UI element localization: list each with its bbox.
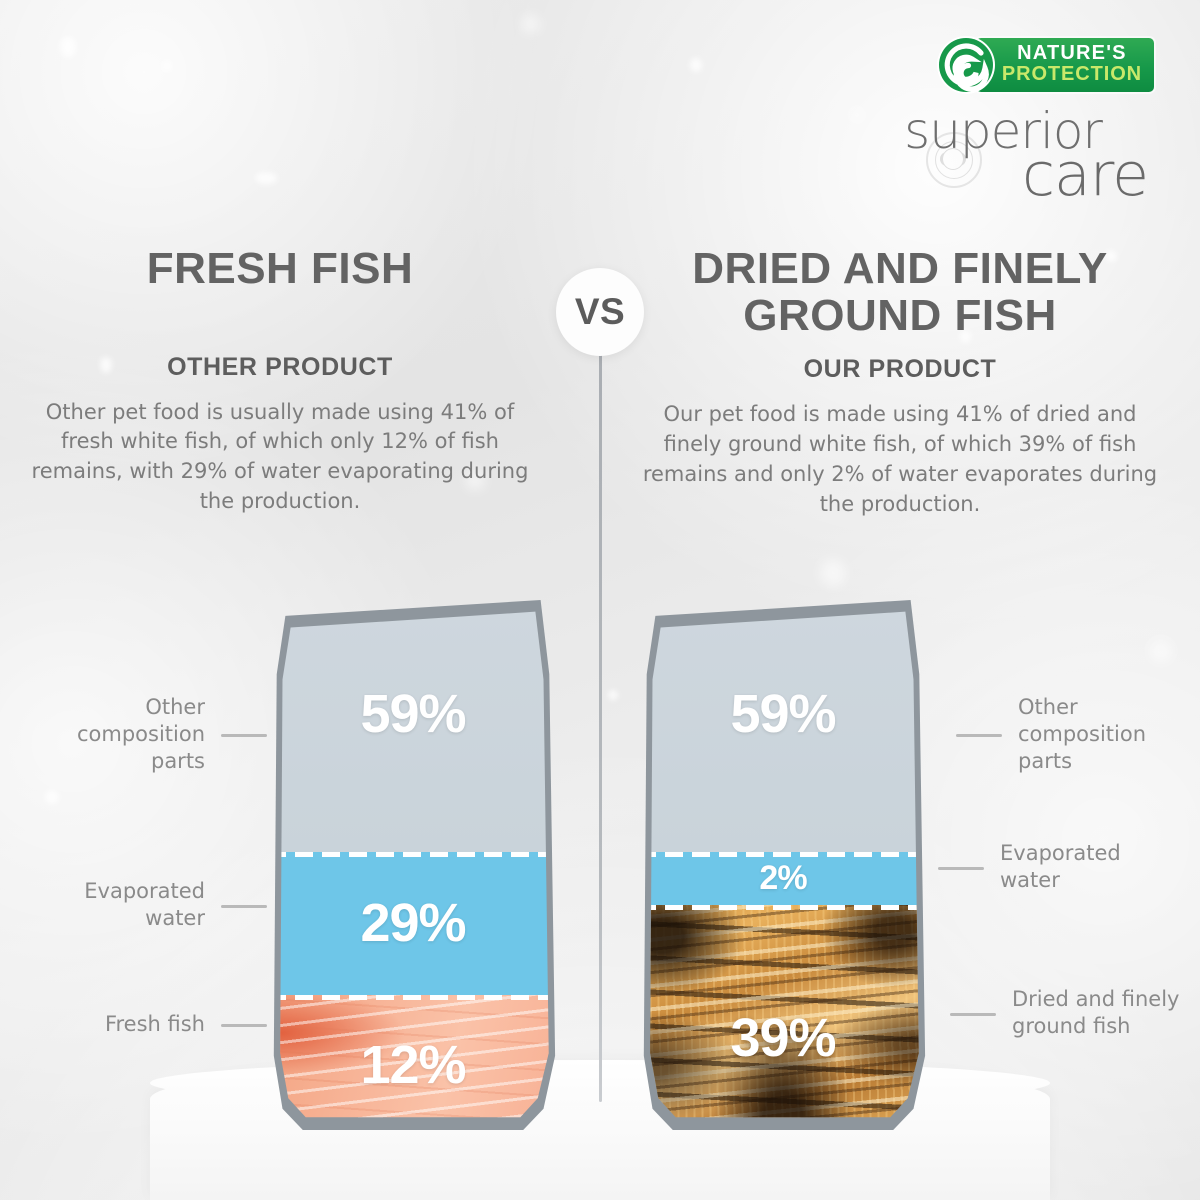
right-title: DRIED AND FINELY GROUND FISH: [640, 246, 1160, 339]
segment-other-composition: 59%: [638, 600, 928, 852]
segment-value: 2%: [759, 859, 806, 898]
left-title: FRESH FISH: [0, 246, 560, 293]
leader-line: [221, 905, 267, 908]
right-paragraph: Our pet food is made using 41% of dried …: [640, 400, 1160, 519]
vs-divider-line: [599, 330, 602, 1102]
our-product-bag: 59% 2% 39%: [638, 600, 928, 1130]
left-subtitle: OTHER PRODUCT: [0, 353, 560, 382]
segment-fresh-fish: 12%: [268, 995, 558, 1130]
segment-value: 39%: [730, 1007, 835, 1069]
care-word: care: [1022, 140, 1148, 210]
segment-value: 59%: [360, 683, 465, 745]
vs-label: VS: [575, 291, 625, 333]
callout-left-other-composition: Other composition parts: [40, 694, 205, 775]
bokeh-speck: [1150, 640, 1172, 662]
bokeh-speck: [162, 60, 172, 72]
callout-label: Evaporated water: [1000, 841, 1121, 892]
callout-label: Dried and finely ground fish: [1012, 987, 1179, 1038]
segment-evaporated-water: 29%: [268, 852, 558, 995]
segment-divider-dash: [638, 905, 928, 910]
callout-label: Other composition parts: [77, 695, 205, 773]
segment-divider-dash: [268, 852, 558, 857]
segment-other-composition: 59%: [268, 600, 558, 852]
callout-left-fresh-fish: Fresh fish: [40, 1011, 205, 1038]
segment-dried-ground-fish: 39%: [638, 905, 928, 1130]
segment-evaporated-water: 2%: [638, 852, 928, 905]
segment-value: 12%: [360, 1034, 465, 1096]
right-subtitle: OUR PRODUCT: [640, 355, 1160, 384]
infographic-canvas: NATURE'S PROTECTION superior care VS FRE…: [0, 0, 1200, 1200]
left-column-header: FRESH FISH OTHER PRODUCT Other pet food …: [0, 246, 560, 517]
bokeh-speck: [690, 58, 702, 72]
leader-line: [950, 1013, 996, 1016]
callout-left-evaporated-water: Evaporated water: [40, 878, 205, 932]
callout-right-dried-ground-fish: Dried and finely ground fish: [1012, 986, 1182, 1040]
bokeh-speck: [45, 790, 59, 804]
callout-right-evaporated-water: Evaporated water: [1000, 840, 1170, 894]
bag-contents: 59% 29% 12%: [268, 600, 558, 1130]
vs-badge: VS: [556, 268, 644, 356]
left-paragraph: Other pet food is usually made using 41%…: [20, 398, 540, 517]
callout-label: Fresh fish: [105, 1012, 205, 1036]
bokeh-speck: [522, 15, 540, 33]
bokeh-speck: [608, 690, 618, 700]
leader-line: [956, 734, 1002, 737]
leader-line: [221, 734, 267, 737]
leader-line: [938, 867, 984, 870]
leader-line: [221, 1024, 267, 1027]
other-product-bag: 59% 29% 12%: [268, 600, 558, 1130]
natures-protection-logo: NATURE'S PROTECTION: [916, 34, 1154, 96]
segment-divider-dash: [268, 995, 558, 1000]
brand-line-1: NATURE'S: [1017, 42, 1127, 64]
brand-line-2: PROTECTION: [1002, 63, 1142, 85]
brand-wordmark: NATURE'S PROTECTION: [976, 38, 1154, 92]
callout-label: Other composition parts: [1018, 695, 1146, 773]
bokeh-speck: [60, 36, 76, 58]
callout-label: Evaporated water: [84, 879, 205, 930]
brand-block: NATURE'S PROTECTION superior care: [916, 34, 1154, 204]
callout-right-other-composition: Other composition parts: [1018, 694, 1178, 775]
bokeh-speck: [820, 560, 846, 586]
right-column-header: DRIED AND FINELY GROUND FISH OUR PRODUCT…: [640, 246, 1160, 520]
bag-contents: 59% 2% 39%: [638, 600, 928, 1130]
segment-divider-dash: [638, 852, 928, 857]
segment-value: 59%: [730, 683, 835, 745]
segment-value: 29%: [360, 892, 465, 954]
bokeh-speck: [255, 172, 277, 184]
bokeh-speck: [850, 108, 864, 122]
superior-care-logo: superior care: [916, 104, 1154, 204]
spiral-icon: [936, 35, 996, 95]
